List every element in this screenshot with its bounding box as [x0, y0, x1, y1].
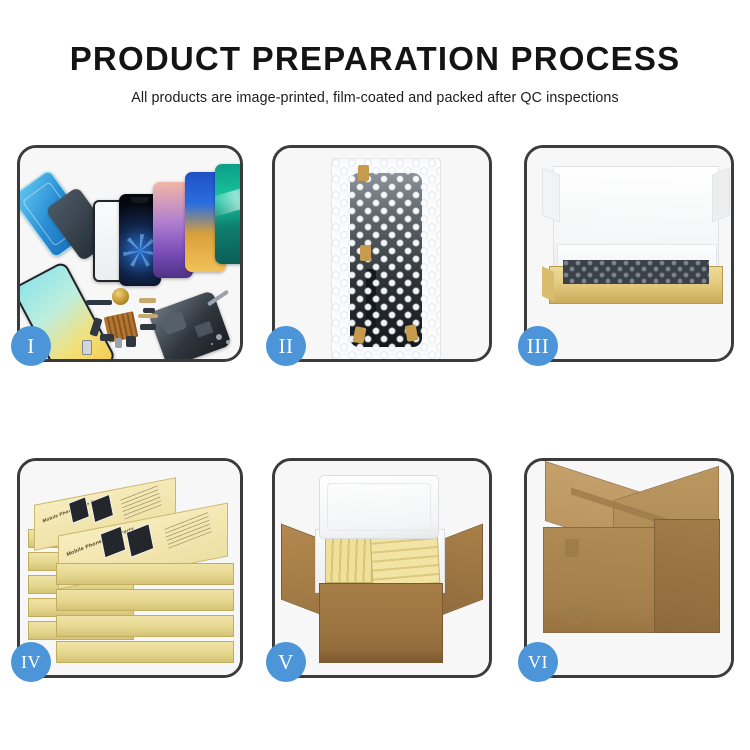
step-panel-1[interactable]: I — [17, 145, 243, 362]
spare-part-bracket-1 — [115, 338, 122, 348]
packed-yellow-boxes-right — [370, 531, 441, 586]
process-step-grid: I II III — [17, 145, 734, 680]
phone-components-scene — [20, 148, 240, 359]
tape-piece-middle — [360, 245, 371, 261]
step-panel-6[interactable]: VI — [524, 458, 734, 678]
step-badge-2: II — [266, 326, 306, 366]
step-6-image — [527, 461, 731, 675]
bubble-wrapped-contents — [563, 260, 709, 284]
screws-group — [216, 334, 222, 340]
gold-speaker-part — [112, 288, 129, 305]
phone-back-housing — [148, 290, 232, 359]
step-badge-1: I — [11, 326, 51, 366]
step-badge-4: IV — [11, 642, 51, 682]
spare-part-camera — [126, 336, 136, 347]
retail-box-stack: Mobile Phone Spare Parts Mobile Phone Sp… — [26, 477, 236, 669]
step-1-image — [20, 148, 240, 359]
carton-tape-patch-bottom — [567, 607, 581, 625]
step-panel-2[interactable]: II — [272, 145, 492, 362]
sealed-carton-front — [543, 527, 657, 633]
front-stacked-box-4 — [56, 641, 234, 663]
front-stacked-box-2 — [56, 589, 234, 611]
spare-part-strip-1 — [86, 300, 112, 305]
spare-part-strip-2 — [140, 324, 156, 330]
front-stacked-box-1 — [56, 563, 234, 585]
carton-body — [319, 583, 443, 663]
tape-piece-top — [358, 165, 369, 181]
front-stacked-box-3 — [56, 615, 234, 637]
carton-tape-patch-top — [565, 539, 579, 557]
teal-swirl-phone — [215, 164, 240, 264]
step-2-image — [275, 148, 489, 359]
step-panel-4[interactable]: Mobile Phone Spare Parts Mobile Phone Sp… — [17, 458, 243, 678]
foam-box-lid — [319, 475, 439, 539]
spare-part-flex-1 — [139, 298, 156, 303]
step-badge-6: VI — [518, 642, 558, 682]
step-panel-5[interactable]: V — [272, 458, 492, 678]
bubble-wrap-bag — [331, 158, 441, 359]
spare-part-flex-3 — [138, 314, 158, 318]
page-title: PRODUCT PREPARATION PROCESS — [0, 0, 750, 77]
step-3-image — [527, 148, 731, 359]
sealed-carton-side — [654, 519, 720, 633]
page-header: PRODUCT PREPARATION PROCESS All products… — [0, 0, 750, 106]
step-badge-5: V — [266, 642, 306, 682]
spare-part-flex-2 — [143, 308, 155, 313]
bubble-texture-overlay — [332, 159, 440, 359]
spare-part-sim-tray — [82, 340, 92, 355]
step-badge-3: III — [518, 326, 558, 366]
step-5-image — [275, 461, 489, 675]
step-4-image: Mobile Phone Spare Parts Mobile Phone Sp… — [20, 461, 240, 675]
step-panel-3[interactable]: III — [524, 145, 734, 362]
page-subtitle: All products are image-printed, film-coa… — [0, 77, 750, 106]
spare-part-button — [100, 334, 114, 341]
